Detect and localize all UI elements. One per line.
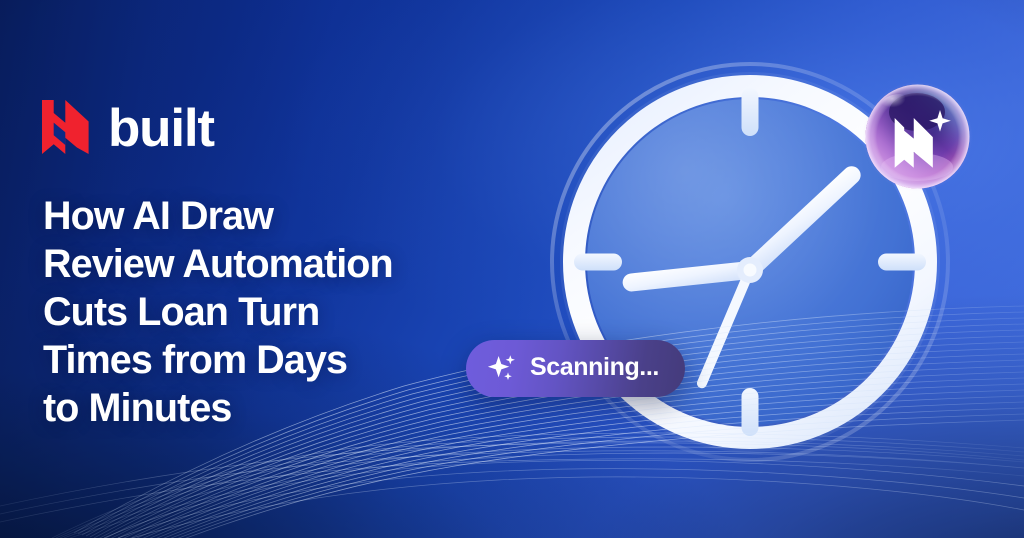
headline-line: Times from Days xyxy=(43,336,493,384)
scanning-status-pill: Scanning... xyxy=(466,340,685,397)
page-title: How AI Draw Review Automation Cuts Loan … xyxy=(43,192,493,432)
headline-line: to Minutes xyxy=(43,384,493,432)
headline-line: Review Automation xyxy=(43,240,493,288)
scanning-label: Scanning... xyxy=(530,355,659,380)
brand-logo-lockup[interactable]: built xyxy=(42,100,214,154)
brand-wordmark: built xyxy=(108,102,214,155)
headline-line: How AI Draw xyxy=(43,192,493,240)
built-logo-orb-badge xyxy=(862,81,973,192)
headline-line: Cuts Loan Turn xyxy=(43,288,493,336)
blog-hero-banner: Scanning... built How AI Draw Review Aut… xyxy=(0,0,1024,538)
sparkle-icon xyxy=(486,353,517,384)
built-house-chevron-logo xyxy=(42,100,91,154)
